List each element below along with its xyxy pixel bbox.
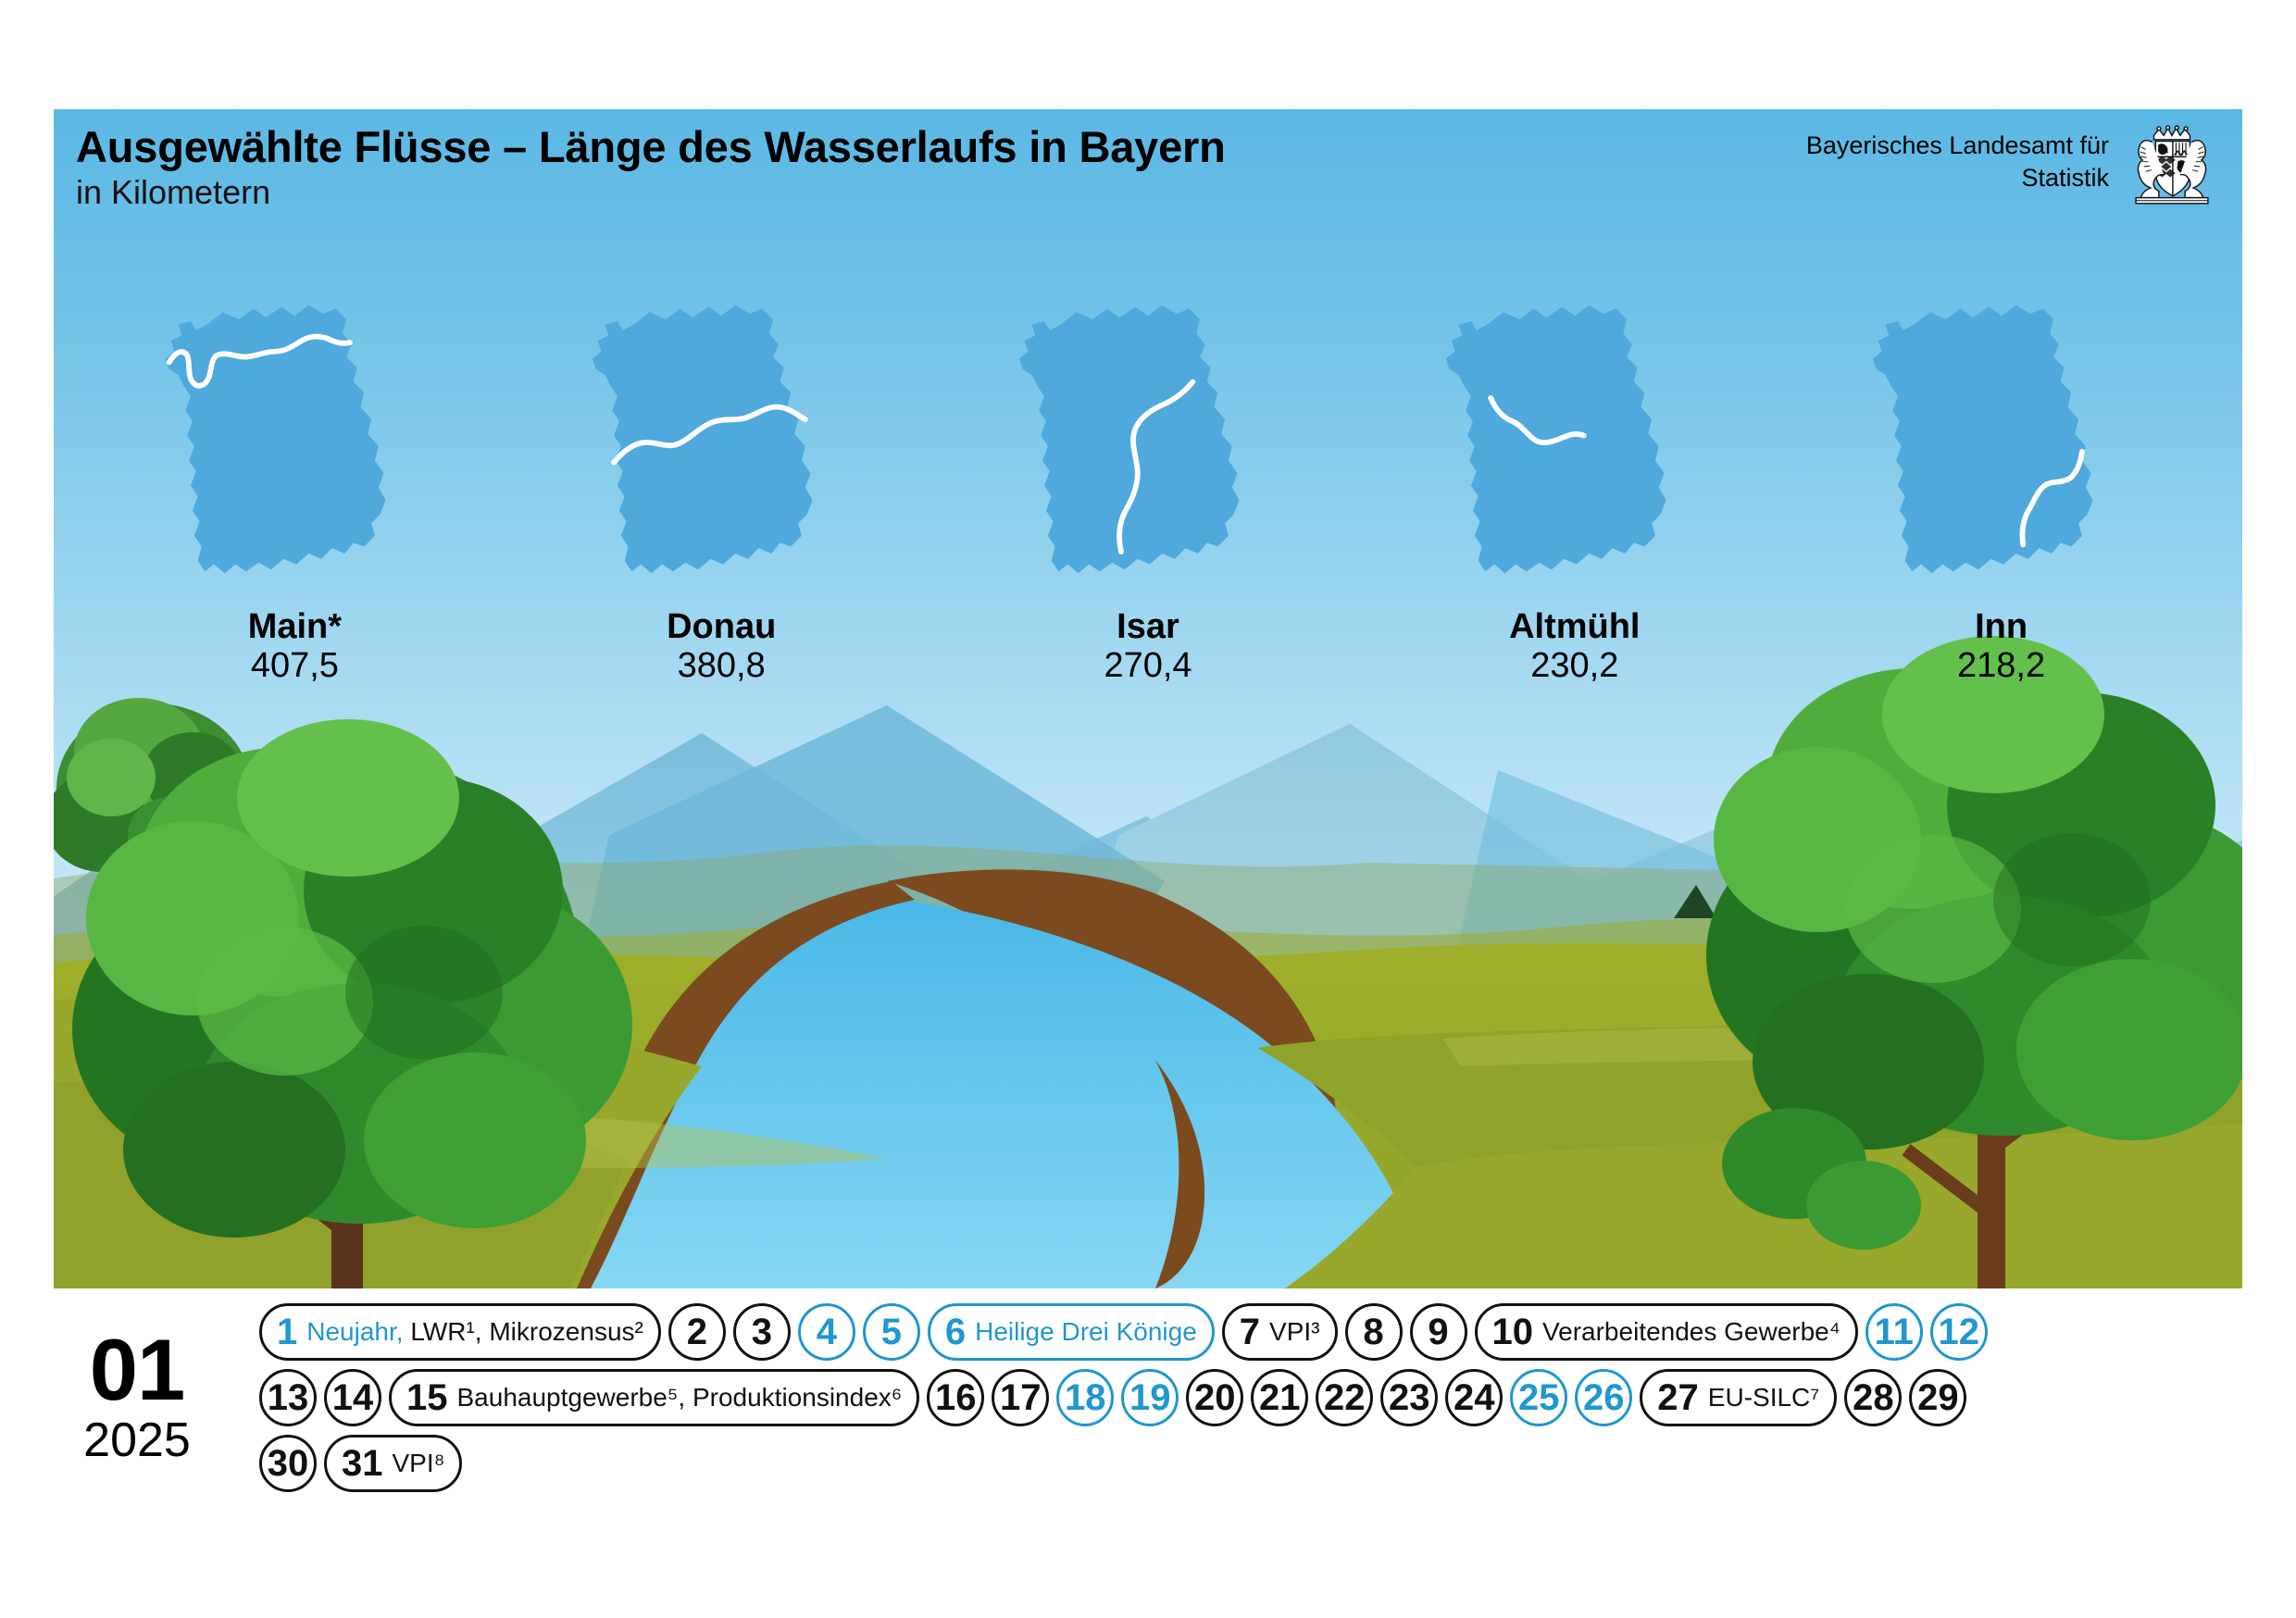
- day-number: 23: [1389, 1379, 1430, 1416]
- calendar-day-18[interactable]: 18: [1056, 1369, 1114, 1426]
- calendar-day-15[interactable]: 15Bauhauptgewerbe⁵, Produktionsindex⁶: [389, 1369, 919, 1426]
- day-number: 14: [332, 1379, 374, 1416]
- day-number: 25: [1518, 1379, 1560, 1416]
- calendar-day-7[interactable]: 7VPI³: [1222, 1303, 1338, 1361]
- day-number: 21: [1259, 1379, 1301, 1416]
- day-event-label: Neujahr, LWR¹, Mikrozensus²: [306, 1319, 643, 1345]
- day-number: 17: [1000, 1379, 1042, 1416]
- calendar-day-13[interactable]: 13: [259, 1369, 317, 1426]
- calendar-day-29[interactable]: 29: [1909, 1369, 1966, 1426]
- river-name: Isar: [1117, 609, 1179, 646]
- river-value: 270,4: [1104, 648, 1192, 685]
- day-number: 29: [1917, 1379, 1959, 1416]
- calendar-day-1[interactable]: 1Neujahr, LWR¹, Mikrozensus²: [259, 1303, 661, 1361]
- page-subtitle: in Kilometern: [76, 175, 1226, 210]
- calendar-day-10[interactable]: 10Verarbeitendes Gewerbe⁴: [1475, 1303, 1858, 1361]
- calendar-day-27[interactable]: 27EU-SILC⁷: [1640, 1369, 1837, 1426]
- calendar-day-22[interactable]: 22: [1316, 1369, 1373, 1426]
- river-name: Inn: [1975, 609, 2028, 646]
- calendar-day-30[interactable]: 30: [259, 1435, 317, 1492]
- calendar-day-28[interactable]: 28: [1844, 1369, 1902, 1426]
- header-block: Ausgewählte Flüsse – Länge des Wasserlau…: [76, 124, 1226, 210]
- bavaria-map-main-icon: [160, 292, 429, 607]
- calendar-day-31[interactable]: 31VPI⁸: [324, 1435, 462, 1492]
- day-number: 24: [1454, 1379, 1495, 1416]
- calendar-day-17[interactable]: 17: [992, 1369, 1049, 1426]
- river-maps-row: Main* 407,5 Donau 380,8 Isar 270,4: [54, 292, 2242, 718]
- day-event-label: VPI⁸: [393, 1450, 445, 1476]
- day-number: 19: [1129, 1379, 1171, 1416]
- organization-name: Bayerisches Landesamt für Statistik: [1806, 124, 2109, 193]
- calendar-day-8[interactable]: 8: [1345, 1303, 1403, 1361]
- day-number: 15: [406, 1379, 448, 1416]
- river-value: 380,8: [678, 648, 766, 685]
- day-number: 11: [1875, 1313, 1914, 1350]
- illustration-panel: Ausgewählte Flüsse – Länge des Wasserlau…: [54, 109, 2242, 1288]
- calendar-day-25[interactable]: 25: [1510, 1369, 1567, 1426]
- day-number: 22: [1324, 1379, 1366, 1416]
- day-event-label: EU-SILC⁷: [1708, 1385, 1820, 1411]
- bavaria-map-inn-icon: [1867, 292, 2136, 607]
- calendar-day-3[interactable]: 3: [733, 1303, 791, 1361]
- calendar-day-26[interactable]: 26: [1575, 1369, 1632, 1426]
- day-event-label: Heilige Drei Könige: [975, 1319, 1197, 1345]
- day-row-3: 3031VPI⁸: [259, 1435, 2287, 1492]
- day-number: 6: [945, 1313, 966, 1350]
- day-number: 13: [268, 1379, 309, 1416]
- day-number: 3: [752, 1313, 772, 1350]
- calendar-day-5[interactable]: 5: [863, 1303, 920, 1361]
- day-number: 18: [1065, 1379, 1106, 1416]
- river-name: Altmühl: [1509, 609, 1640, 646]
- day-number: 31: [342, 1445, 383, 1482]
- day-number: 16: [935, 1379, 977, 1416]
- river-name: Main*: [248, 609, 342, 646]
- river-card-altmuehl: Altmühl 230,2: [1417, 292, 1732, 685]
- day-number: 30: [268, 1445, 309, 1482]
- day-number: 5: [881, 1313, 902, 1350]
- day-number: 20: [1194, 1379, 1236, 1416]
- bavaria-coat-of-arms-icon: [2122, 124, 2222, 209]
- day-row-2: 131415Bauhauptgewerbe⁵, Produktionsindex…: [259, 1369, 2287, 1426]
- calendar-day-21[interactable]: 21: [1251, 1369, 1308, 1426]
- organization-line-2: Statistik: [1806, 162, 2109, 194]
- calendar-day-19[interactable]: 19: [1121, 1369, 1179, 1426]
- river-value: 218,2: [1957, 648, 2045, 685]
- day-row-1: 1Neujahr, LWR¹, Mikrozensus²23456Heilige…: [259, 1303, 2287, 1361]
- day-number: 8: [1363, 1313, 1383, 1350]
- day-number: 27: [1657, 1379, 1699, 1416]
- organization-line-1: Bayerisches Landesamt für: [1806, 130, 2109, 162]
- day-number: 12: [1939, 1313, 1980, 1350]
- river-card-donau: Donau 380,8: [564, 292, 879, 685]
- calendar-day-2[interactable]: 2: [668, 1303, 726, 1361]
- day-number: 1: [277, 1313, 297, 1350]
- calendar-day-23[interactable]: 23: [1380, 1369, 1438, 1426]
- days-area: 1Neujahr, LWR¹, Mikrozensus²23456Heilige…: [259, 1303, 2287, 1492]
- river-card-main: Main* 407,5: [137, 292, 452, 685]
- day-number: 26: [1583, 1379, 1625, 1416]
- calendar-day-14[interactable]: 14: [324, 1369, 381, 1426]
- river-card-inn: Inn 218,2: [1844, 292, 2159, 685]
- day-number: 4: [817, 1313, 837, 1350]
- calendar-day-20[interactable]: 20: [1186, 1369, 1243, 1426]
- calendar-day-11[interactable]: 11: [1865, 1303, 1923, 1361]
- day-number: 9: [1428, 1313, 1448, 1350]
- month-number: 01: [44, 1329, 230, 1411]
- day-release-name: LWR¹, Mikrozensus²: [404, 1317, 643, 1346]
- day-event-label: Verarbeitendes Gewerbe⁴: [1542, 1319, 1841, 1345]
- calendar-day-6[interactable]: 6Heilige Drei Könige: [928, 1303, 1215, 1361]
- calendar-day-9[interactable]: 9: [1410, 1303, 1467, 1361]
- river-card-isar: Isar 270,4: [991, 292, 1305, 685]
- day-holiday-name: Neujahr,: [306, 1317, 403, 1346]
- bavaria-map-isar-icon: [1014, 292, 1282, 607]
- calendar-day-12[interactable]: 12: [1930, 1303, 1988, 1361]
- organization-logo: Bayerisches Landesamt für Statistik: [1806, 124, 2222, 209]
- calendar-day-16[interactable]: 16: [927, 1369, 984, 1426]
- river-value: 230,2: [1530, 648, 1618, 685]
- day-number: 7: [1240, 1313, 1260, 1350]
- bavaria-map-altmuehl-icon: [1441, 292, 1709, 607]
- bavaria-map-donau-icon: [587, 292, 855, 607]
- calendar-strip: 01 2025 1Neujahr, LWR¹, Mikrozensus²2345…: [0, 1296, 2296, 1618]
- month-block: 01 2025: [44, 1329, 230, 1464]
- calendar-day-24[interactable]: 24: [1445, 1369, 1503, 1426]
- page-title: Ausgewählte Flüsse – Länge des Wasserlau…: [76, 124, 1226, 169]
- day-number: 2: [687, 1313, 707, 1350]
- calendar-day-4[interactable]: 4: [798, 1303, 855, 1361]
- day-event-label: VPI³: [1269, 1319, 1319, 1345]
- river-value: 407,5: [251, 648, 339, 685]
- day-number: 10: [1492, 1313, 1534, 1350]
- day-event-label: Bauhauptgewerbe⁵, Produktionsindex⁶: [457, 1385, 903, 1411]
- river-name: Donau: [667, 609, 776, 646]
- day-number: 28: [1853, 1379, 1894, 1416]
- year-label: 2025: [44, 1416, 230, 1464]
